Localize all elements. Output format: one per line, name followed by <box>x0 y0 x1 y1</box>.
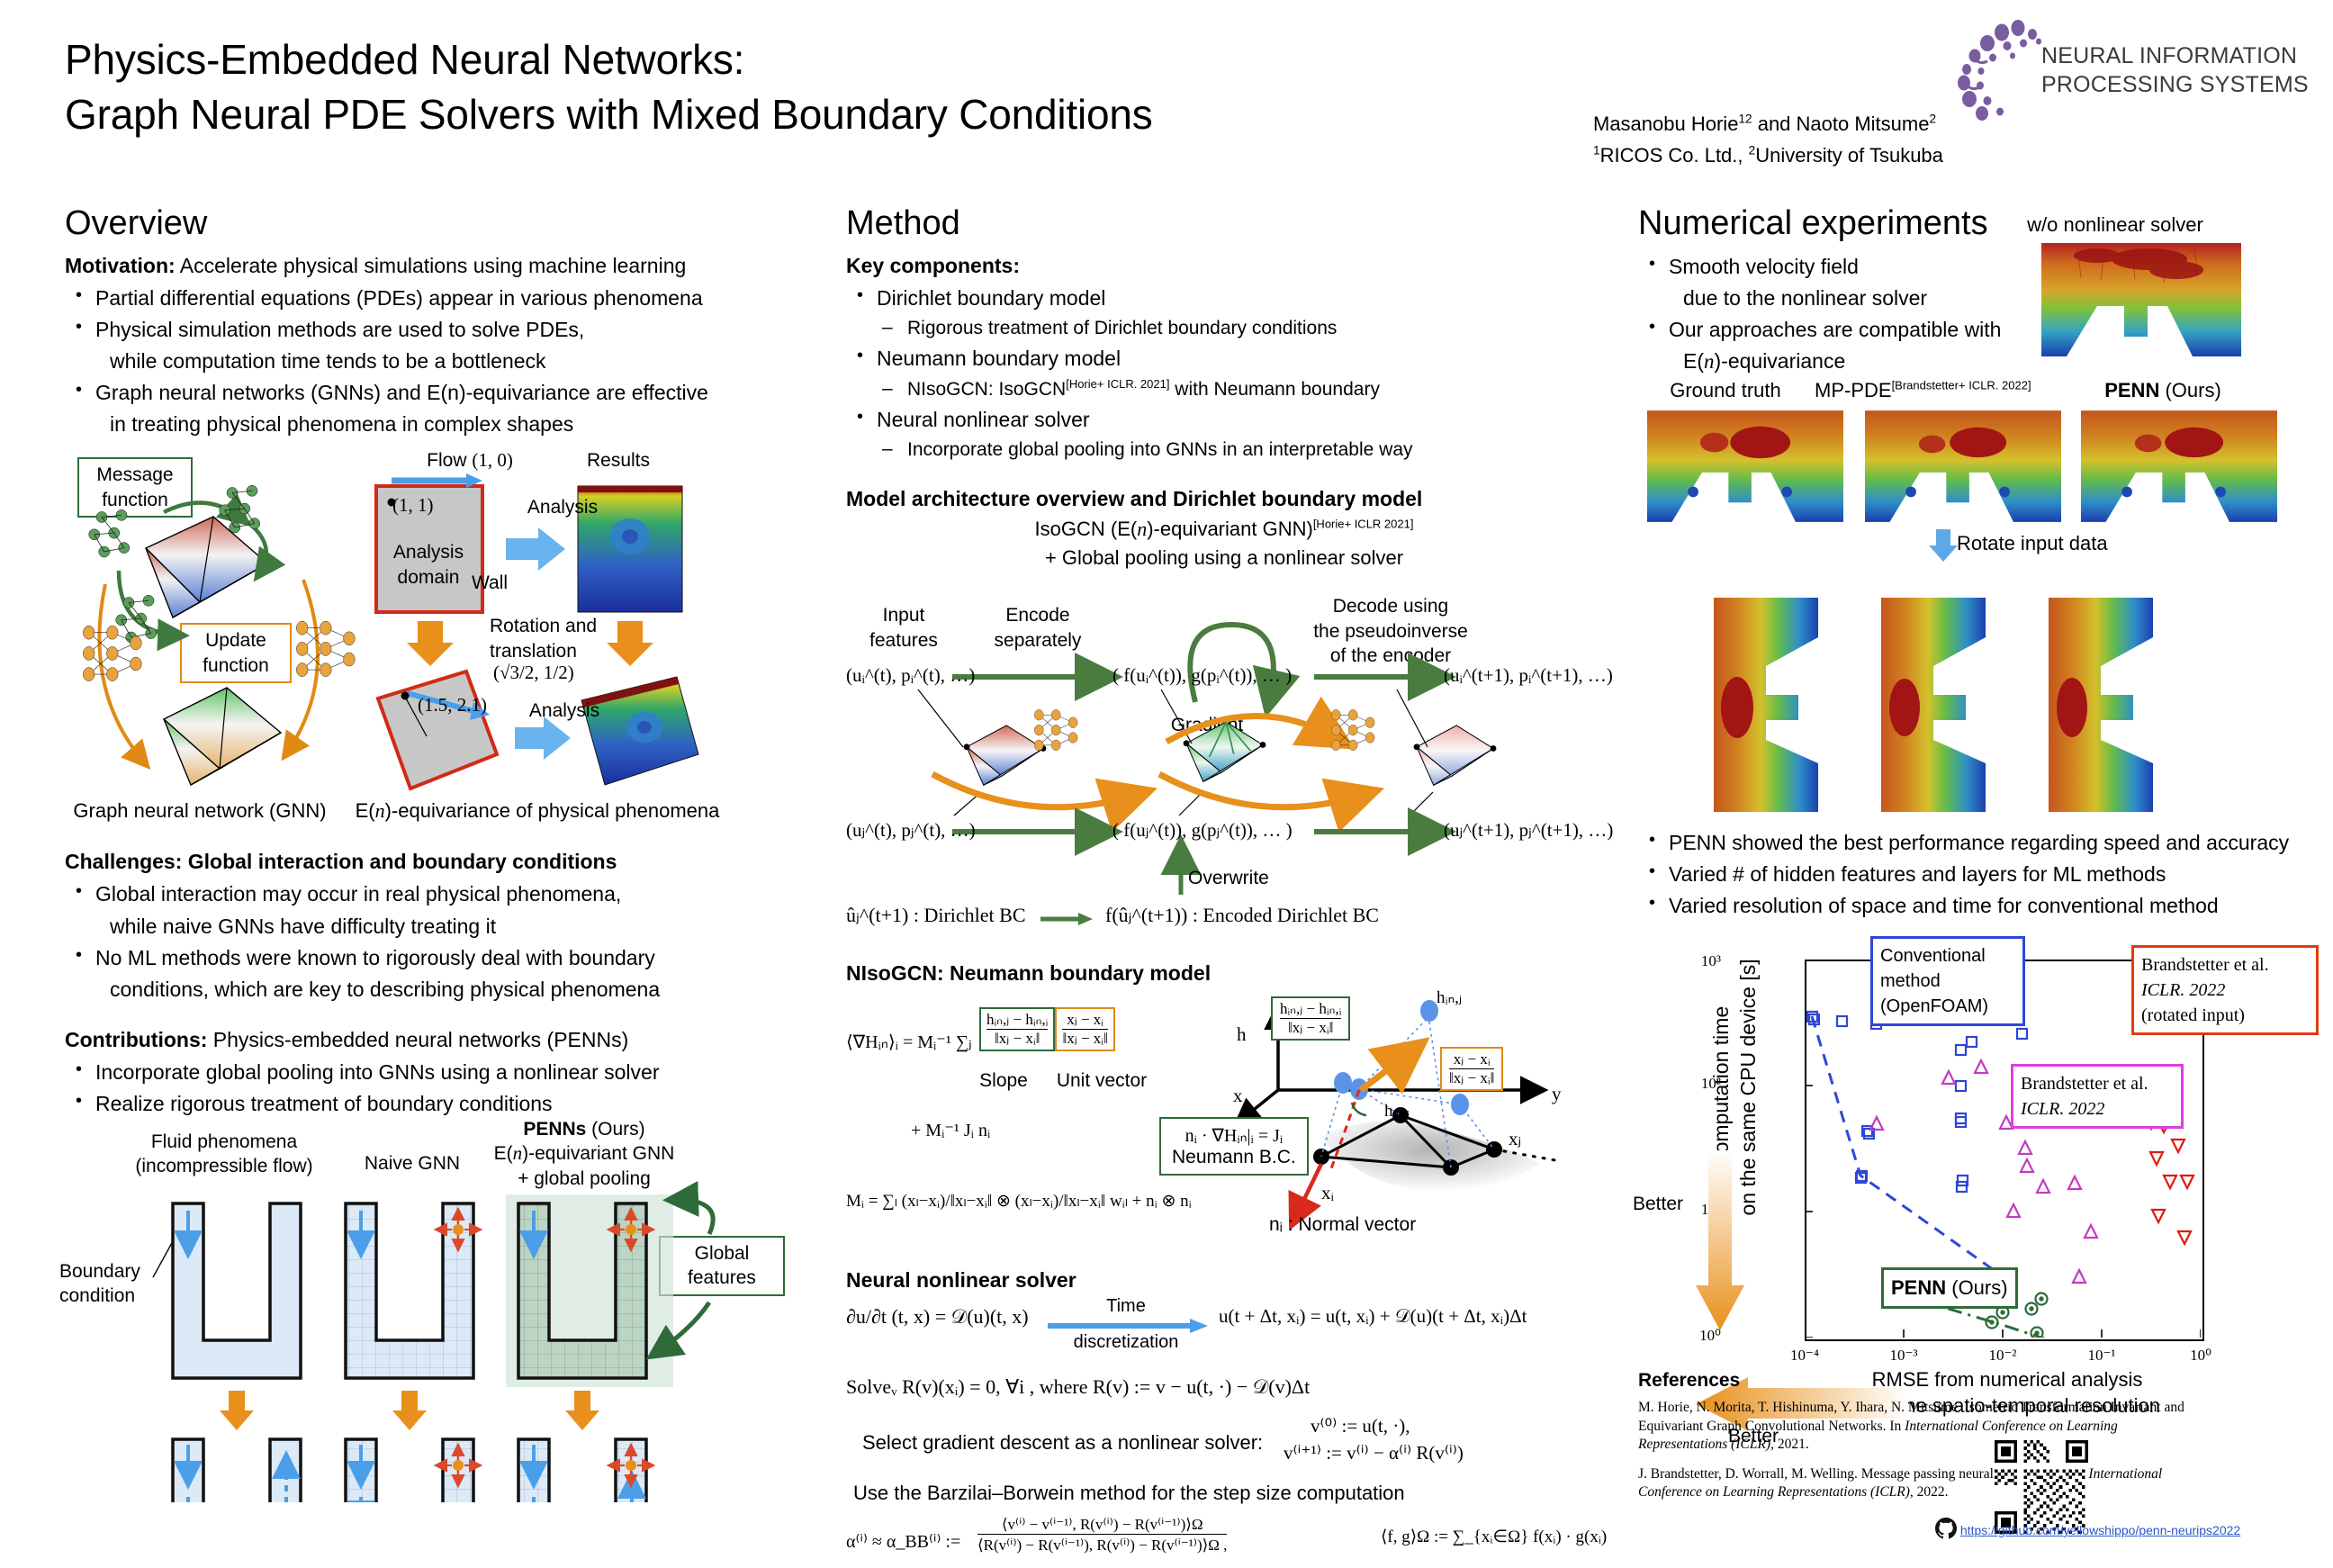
architecture-subheading: Model architecture overview and Dirichle… <box>846 487 1602 511</box>
result-image-grid: w/o nonlinear solver <box>1638 243 2295 594</box>
caption-penn: PENN (Ours) <box>2059 378 2266 403</box>
challenges-label: Challenges: Global interaction and bound… <box>65 848 803 876</box>
dirichlet-arrow-icon <box>1040 911 1094 929</box>
unit-box-denominator: ‖xⱼ − xᵢ‖ <box>1449 1068 1494 1087</box>
annot-rot-l1: Brandstetter et al. <box>2141 952 2309 978</box>
references-section: References M. Horie, N. Morita, T. Hishi… <box>1638 1370 2286 1513</box>
axis-y-label: y <box>1552 1083 1562 1105</box>
neumann-equation-M: Mᵢ = ∑ₗ (xₗ−xᵢ)/‖xₗ−xᵢ‖ ⊗ (xₗ−xᵢ)/‖xₗ−xᵢ… <box>846 1191 1192 1212</box>
chart-x-tick-1e-2: 10⁻² <box>1971 1347 2034 1365</box>
rotated-vector-label: (√3/2, 1/2) <box>493 661 637 685</box>
figure-u-channel-comparison: Fluid phenomena(incompressible flow) Nai… <box>65 1124 812 1502</box>
figure-nonlinear-solver: ∂u/∂t (t, x) = 𝒟(u)(t, x) Time discretiz… <box>846 1298 1602 1568</box>
neurips-logo-text: NEURAL INFORMATION PROCESSING SYSTEMS <box>2041 41 2309 99</box>
slope-fraction: hᵢₙ,ⱼ − hᵢₙ,ᵢ ‖xⱼ − xᵢ‖ <box>979 1007 1055 1051</box>
motivation-label: Motivation: Accelerate physical simulati… <box>65 252 803 280</box>
unit-vector-label: Unit vector <box>1039 1068 1165 1093</box>
results-label: Results <box>569 448 668 473</box>
point-1-label: (1, 1) <box>392 493 473 518</box>
neumann-equation-plus: + Mᵢ⁻¹ Jᵢ nᵢ <box>911 1119 990 1141</box>
list-item: Incorporate global pooling into GNNs usi… <box>65 1058 803 1087</box>
neumann-equation-main: ⟨∇Hᵢₙ⟩ᵢ = Mᵢ⁻¹ ∑ⱼ <box>846 1031 972 1053</box>
slope-box-numerator: hᵢₙ,ⱼ − hᵢₙ,ᵢ <box>1280 1000 1341 1018</box>
result-image-mp-pde <box>1865 410 2061 522</box>
gnn-caption: Graph neural network (GNN) <box>65 799 335 823</box>
unit-box-schematic: xⱼ − xᵢ ‖xⱼ − xᵢ‖ <box>1440 1047 1503 1091</box>
chart-x-tick-1e0: 10⁰ <box>2169 1347 2232 1365</box>
equation-output-j: (uⱼ^(t+1), pⱼ^(t+1), …) <box>1444 819 1613 842</box>
method-component-list-3: Neural nonlinear solver <box>846 405 1602 435</box>
list-item: Rigorous treatment of Dirichlet boundary… <box>877 315 1602 342</box>
chart-speed-accuracy: Computation timeon the same CPU device [… <box>1638 925 2295 1447</box>
title-line-2: Graph Neural PDE Solvers with Mixed Boun… <box>65 87 1523 142</box>
normal-vector-label: nᵢ : Normal vector <box>1269 1214 1416 1236</box>
unit-box-numerator: xⱼ − xᵢ <box>1449 1050 1494 1068</box>
list-item: while naive GNNs have difficulty treatin… <box>65 912 803 942</box>
rotated-result-images <box>1705 594 2245 816</box>
nls-equation-5-lhs: α⁽ⁱ⁾ ≈ α_BB⁽ⁱ⁾ := <box>846 1530 960 1553</box>
dirichlet-bc-right: f(ûⱼ^(t+1)) : Encoded Dirichlet BC <box>1105 904 1379 927</box>
analysis-label-top: Analysis <box>513 495 612 519</box>
annot-bra-l2: ICLR. 2022 <box>2021 1096 2174 1122</box>
list-item: Global interaction may occur in real phy… <box>65 879 803 909</box>
list-item: Realize rigorous treatment of boundary c… <box>65 1089 803 1119</box>
flow-label: Flow (1, 0) <box>389 448 551 473</box>
github-icon <box>1935 1518 1957 1539</box>
annot-conventional-l3: (OpenFOAM) <box>1880 994 2015 1019</box>
github-link[interactable]: https://github.com/yellowshippo/penn-neu… <box>1960 1523 2240 1537</box>
reference-item: M. Horie, N. Morita, T. Hishinuma, Y. Ih… <box>1638 1399 2196 1455</box>
neurips-logo: NEURAL INFORMATION PROCESSING SYSTEMS <box>1953 20 2313 121</box>
axis-h-label: h <box>1237 1023 1247 1046</box>
method-sub-list-1: Rigorous treatment of Dirichlet boundary… <box>846 315 1602 342</box>
list-item: Varied resolution of space and time for … <box>1638 891 2295 921</box>
wall-label: Wall <box>472 571 535 595</box>
nls-eq5-numerator: ⟨v⁽ⁱ⁾ − v⁽ⁱ⁻¹⁾, R(v⁽ⁱ⁾) − R(v⁽ⁱ⁻¹⁾)⟩Ω <box>977 1516 1227 1534</box>
annot-conventional-l1: Conventional <box>1880 943 2015 969</box>
figure-model-architecture: IsoGCN (E(n)-equivariant GNN)[Horie+ ICL… <box>846 517 1602 904</box>
neumann-fraction-group: hᵢₙ,ⱼ − hᵢₙ,ᵢ ‖xⱼ − xᵢ‖ xⱼ − xᵢ ‖xⱼ − xᵢ… <box>979 1007 1115 1051</box>
contributions-label: Contributions: Physics-embedded neural n… <box>65 1026 803 1054</box>
time-discretization-label-1: Time <box>1040 1294 1212 1318</box>
node-hj-label: hᵢₙ,ⱼ <box>1437 987 1462 1008</box>
dirichlet-bc-left: ûⱼ^(t+1) : Dirichlet BC <box>846 904 1026 927</box>
author-affiliations: 1RICOS Co. Ltd., 2University of Tsukuba <box>1593 140 2169 171</box>
analysis-label-bottom: Analysis <box>515 698 614 723</box>
unit-numerator: xⱼ − xᵢ <box>1062 1011 1107 1029</box>
slope-box-denominator: ‖xⱼ − xᵢ‖ <box>1280 1018 1341 1037</box>
references-heading: References <box>1638 1370 2286 1392</box>
chart-y-tick-100: 10² <box>1667 1075 1721 1093</box>
equation-encoded-i: ( f(uᵢ^(t)), g(pᵢ^(t)), … ) <box>1112 664 1292 687</box>
slope-label: Slope <box>963 1068 1044 1093</box>
method-sub-list-2: NIsoGCN: IsoGCN[Horie+ ICLR. 2021] with … <box>846 376 1602 403</box>
neurips-blob-icon <box>1953 20 2052 121</box>
chart-y-tick-1000: 10³ <box>1667 952 1721 970</box>
list-item: Physical simulation methods are used to … <box>65 315 803 345</box>
list-item: Neumann boundary model <box>846 344 1602 374</box>
list-item: in treating physical phenomena in comple… <box>65 410 803 439</box>
nls-equation-1-right: u(t + Δt, xᵢ) = u(t, xᵢ) + 𝒟(u)(t + Δt, … <box>1219 1305 1527 1328</box>
numerical-bottom-bullets: PENN showed the best performance regardi… <box>1638 828 2295 921</box>
method-component-list-2: Neumann boundary model <box>846 344 1602 374</box>
method-component-list: Dirichlet boundary model <box>846 284 1602 313</box>
nls-bb-label: Use the Barzilai–Borwein method for the … <box>853 1482 1405 1505</box>
chart-x-tick-1e-3: 10⁻³ <box>1872 1347 1935 1365</box>
list-item: Dirichlet boundary model <box>846 284 1602 313</box>
annot-penn-rest: (Ours) <box>1946 1276 2007 1299</box>
neumann-bc-label: Neumann B.C. <box>1172 1147 1296 1168</box>
result-image-ground-truth <box>1647 410 1843 522</box>
nls-eq5-denominator: ⟨R(v⁽ⁱ⁾) − R(v⁽ⁱ⁻¹⁾), R(v⁽ⁱ⁾) − R(v⁽ⁱ⁻¹⁾… <box>977 1534 1227 1554</box>
rotated-result-grid <box>1638 594 2295 819</box>
annot-bra-l1: Brandstetter et al. <box>2021 1071 2174 1096</box>
reference-item: J. Brandstetter, D. Worrall, M. Welling.… <box>1638 1465 2196 1502</box>
architecture-diagram <box>846 517 1602 904</box>
rotation-translation-label: Rotation andtranslation <box>490 614 643 663</box>
chart-x-tick-1e-1: 10⁻¹ <box>2070 1347 2133 1365</box>
neumann-subheading: NIsoGCN: Neumann boundary model <box>846 961 1602 986</box>
node-xi-label: xᵢ <box>1321 1182 1334 1204</box>
node-hi-label: hᵢₙ,ᵢ <box>1384 1101 1410 1122</box>
title-line-1: Physics-Embedded Neural Networks: <box>65 32 1523 87</box>
list-item: conditions, which are key to describing … <box>65 975 803 1005</box>
equation-input-i: (uᵢ^(t), pᵢ^(t), …) <box>846 664 975 687</box>
annot-rot-l2: ICLR. 2022 <box>2141 978 2309 1003</box>
neumann-bc-equation: nᵢ · ∇Hᵢₙ|ᵢ = Jᵢ <box>1172 1124 1296 1147</box>
list-item: Partial differential equations (PDEs) ap… <box>65 284 803 313</box>
list-item: Neural nonlinear solver <box>846 405 1602 435</box>
slope-numerator: hᵢₙ,ⱼ − hᵢₙ,ᵢ <box>986 1011 1048 1029</box>
key-components-label: Key components: <box>846 252 1602 280</box>
caption-mp-pde: MP-PDE[Brandstetter+ ICLR. 2022] <box>1815 378 2067 403</box>
annotation-brandstetter-rotated: Brandstetter et al. ICLR. 2022 (rotated … <box>2131 945 2319 1035</box>
list-item: Graph neural networks (GNNs) and E(n)-eq… <box>65 378 803 408</box>
overwrite-label: Overwrite <box>1188 866 1332 890</box>
page-title: Physics-Embedded Neural Networks: Graph … <box>65 32 1523 141</box>
nls-equation-2: Solveᵥ R(v)(xᵢ) = 0, ∀i , where R(v) := … <box>846 1375 1310 1399</box>
better-y-arrow-icon <box>1694 1150 1748 1339</box>
nls-equation-5-fraction: ⟨v⁽ⁱ⁾ − v⁽ⁱ⁻¹⁾, R(v⁽ⁱ⁾) − R(v⁽ⁱ⁻¹⁾)⟩Ω ⟨R… <box>977 1516 1227 1554</box>
analysis-domain-label: Analysisdomain <box>375 540 482 590</box>
annotation-penn: PENN (Ours) <box>1881 1267 2018 1310</box>
figure-neumann-boundary: ⟨∇Hᵢₙ⟩ᵢ = Mᵢ⁻¹ ∑ⱼ hᵢₙ,ⱼ − hᵢₙ,ᵢ ‖xⱼ − xᵢ… <box>846 991 1602 1261</box>
overview-heading: Overview <box>65 205 803 243</box>
contributions-bullet-list: Incorporate global pooling into GNNs usi… <box>65 1058 803 1119</box>
unit-vector-fraction: xⱼ − xᵢ ‖xⱼ − xᵢ‖ <box>1055 1007 1114 1051</box>
node-xj-label: xⱼ <box>1509 1128 1521 1150</box>
list-item: No ML methods were known to rigorously d… <box>65 943 803 973</box>
equation-encoded-j: ( f(uⱼ^(t)), g(pⱼ^(t)), … ) <box>1112 819 1293 842</box>
rotate-arrow-icon <box>1928 529 1959 562</box>
nls-equation-1-left: ∂u/∂t (t, x) = 𝒟(u)(t, x) <box>846 1305 1029 1329</box>
equivariance-caption: E(n)-equivariance of physical phenomena <box>335 799 740 823</box>
annot-conventional-l2: method <box>1880 969 2015 994</box>
chart-x-tick-1e-4: 10⁻⁴ <box>1773 1347 1836 1365</box>
column-numerical-experiments: Numerical experiments Smooth velocity fi… <box>1638 205 2295 1447</box>
equation-output-i: (uᵢ^(t+1), pᵢ^(t+1), …) <box>1444 664 1613 687</box>
overview-bullet-list: Partial differential equations (PDEs) ap… <box>65 284 803 440</box>
annotation-conventional-method: Conventional method (OpenFOAM) <box>1870 936 2025 1026</box>
method-heading: Method <box>846 205 1602 243</box>
equation-input-j: (uⱼ^(t), pⱼ^(t), …) <box>846 819 976 842</box>
list-item: while computation time tends to be a bot… <box>65 347 803 376</box>
list-item: Varied # of hidden features and layers f… <box>1638 860 2295 889</box>
slope-denominator: ‖xⱼ − xᵢ‖ <box>986 1029 1048 1048</box>
nls-equation-3a: v⁽⁰⁾ := u(t, ·), <box>1311 1415 1410 1437</box>
github-line: https://github.com/yellowshippo/penn-neu… <box>1935 1518 2240 1539</box>
neurips-logo-line-1: NEURAL INFORMATION <box>2041 41 2309 70</box>
column-overview: Overview Motivation: Accelerate physical… <box>65 205 803 1502</box>
caption-ground-truth: Ground truth <box>1631 378 1820 403</box>
nls-inner-product-def: ⟨f, g⟩Ω := ∑_{xᵢ∈Ω} f(xᵢ) · g(xᵢ) <box>1381 1527 1607 1547</box>
poster-root: Physics-Embedded Neural Networks: Graph … <box>0 0 2333 1555</box>
list-item: PENN showed the best performance regardi… <box>1638 828 2295 858</box>
annotation-brandstetter: Brandstetter et al. ICLR. 2022 <box>2011 1064 2184 1129</box>
nls-gradient-descent-label: Select gradient descent as a nonlinear s… <box>862 1431 1263 1455</box>
list-item: Incorporate global pooling into GNNs in … <box>877 437 1602 464</box>
annot-penn-bold: PENN <box>1891 1276 1946 1299</box>
slope-box-schematic: hᵢₙ,ⱼ − hᵢₙ,ᵢ ‖xⱼ − xᵢ‖ <box>1271 996 1350 1041</box>
challenges-bullet-list: Global interaction may occur in real phy… <box>65 879 803 1004</box>
method-sub-list-3: Incorporate global pooling into GNNs in … <box>846 437 1602 464</box>
result-image-wo-solver <box>2041 243 2241 356</box>
column-method: Method Key components: Dirichlet boundar… <box>846 205 1602 1568</box>
u-channel-diagram <box>65 1124 812 1502</box>
axis-x-label: x <box>1233 1085 1243 1107</box>
result-image-penn <box>2081 410 2277 522</box>
time-discretization-label-2: discretization <box>1040 1330 1212 1354</box>
rotate-input-label: Rotate input data <box>1957 531 2227 556</box>
better-y-label: Better <box>1633 1194 1683 1215</box>
nls-equation-3b: v⁽ⁱ⁺¹⁾ := v⁽ⁱ⁾ − α⁽ⁱ⁾ R(v⁽ⁱ⁾) <box>1284 1442 1464 1464</box>
neurips-logo-line-2: PROCESSING SYSTEMS <box>2041 70 2309 99</box>
annot-rot-l3: (rotated input) <box>2141 1003 2309 1028</box>
nls-subheading: Neural nonlinear solver <box>846 1268 1602 1293</box>
neumann-bc-box: nᵢ · ∇Hᵢₙ|ᵢ = Jᵢ Neumann B.C. <box>1159 1117 1309 1176</box>
unit-denominator: ‖xⱼ − xᵢ‖ <box>1062 1029 1107 1048</box>
list-item: NIsoGCN: IsoGCN[Horie+ ICLR. 2021] with … <box>877 376 1602 403</box>
caption-wo-nonlinear-solver: w/o nonlinear solver <box>1980 212 2250 238</box>
figure-gnn-equivariance: Messagefunction Updatefunction <box>65 454 803 832</box>
